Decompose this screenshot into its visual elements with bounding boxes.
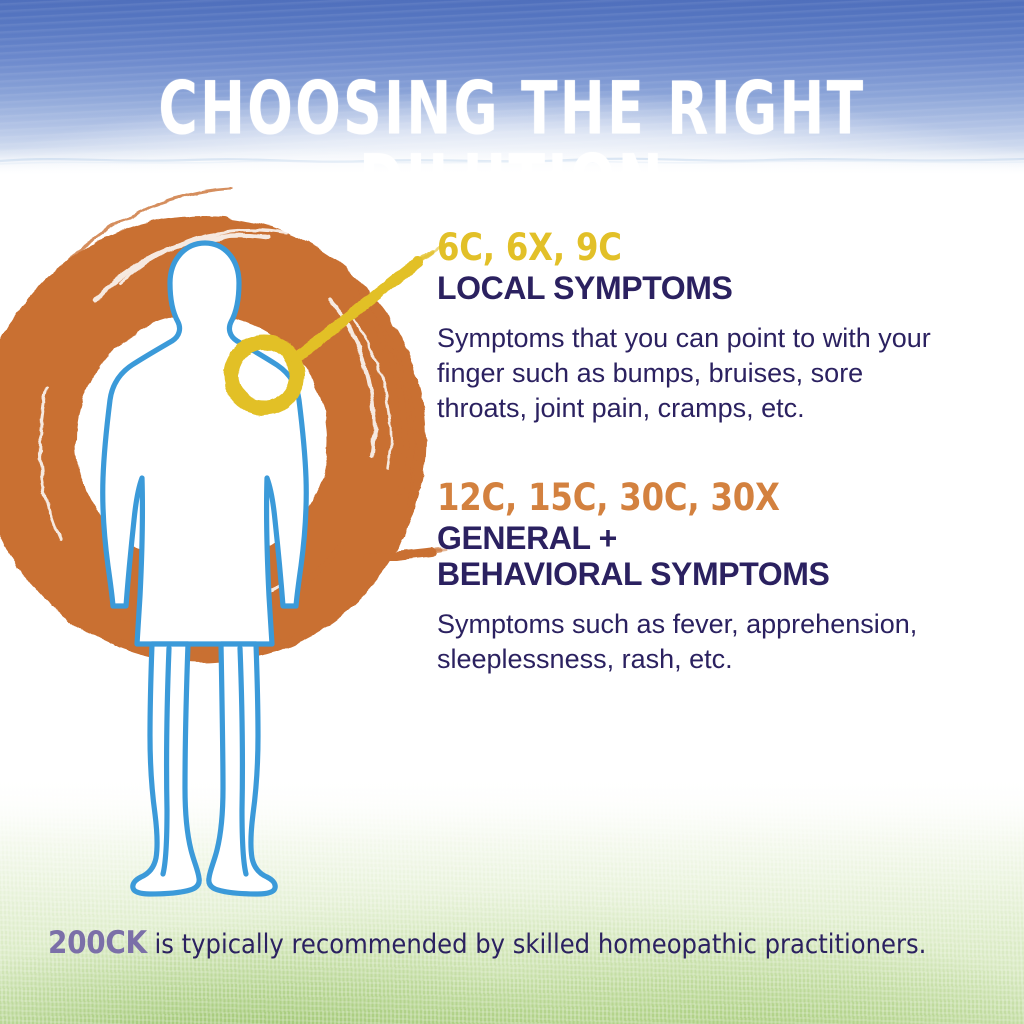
infographic-canvas: CHOOSING THE RIGHT DILUTION xyxy=(0,0,1024,1024)
footer-note-text: is typically recommended by skilled home… xyxy=(147,929,927,960)
symptom-kind-local: LOCAL SYMPTOMS xyxy=(437,271,947,307)
section-local-symptoms: 6C, 6X, 9C LOCAL SYMPTOMS Symptoms that … xyxy=(437,228,947,426)
section-general-behavioral: 12C, 15C, 30C, 30X GENERAL + BEHAVIORAL … xyxy=(437,478,947,677)
page-title: CHOOSING THE RIGHT DILUTION xyxy=(20,72,1003,218)
symptom-description-local: Symptoms that you can point to with your… xyxy=(437,321,937,426)
footer-potency-label: 200CK xyxy=(48,925,147,961)
dilution-sections: 6C, 6X, 9C LOCAL SYMPTOMS Symptoms that … xyxy=(437,228,947,677)
symptom-description-general: Symptoms such as fever, apprehension, sl… xyxy=(437,607,937,677)
footer-note: 200CK is typically recommended by skille… xyxy=(48,925,988,962)
dose-label-general: 12C, 15C, 30C, 30X xyxy=(437,478,932,518)
symptom-kind-general: GENERAL + BEHAVIORAL SYMPTOMS xyxy=(437,521,947,593)
dose-label-local: 6C, 6X, 9C xyxy=(437,228,932,268)
symptom-kind-general-line2: BEHAVIORAL SYMPTOMS xyxy=(437,556,829,592)
symptom-kind-general-line1: GENERAL + xyxy=(437,520,617,556)
